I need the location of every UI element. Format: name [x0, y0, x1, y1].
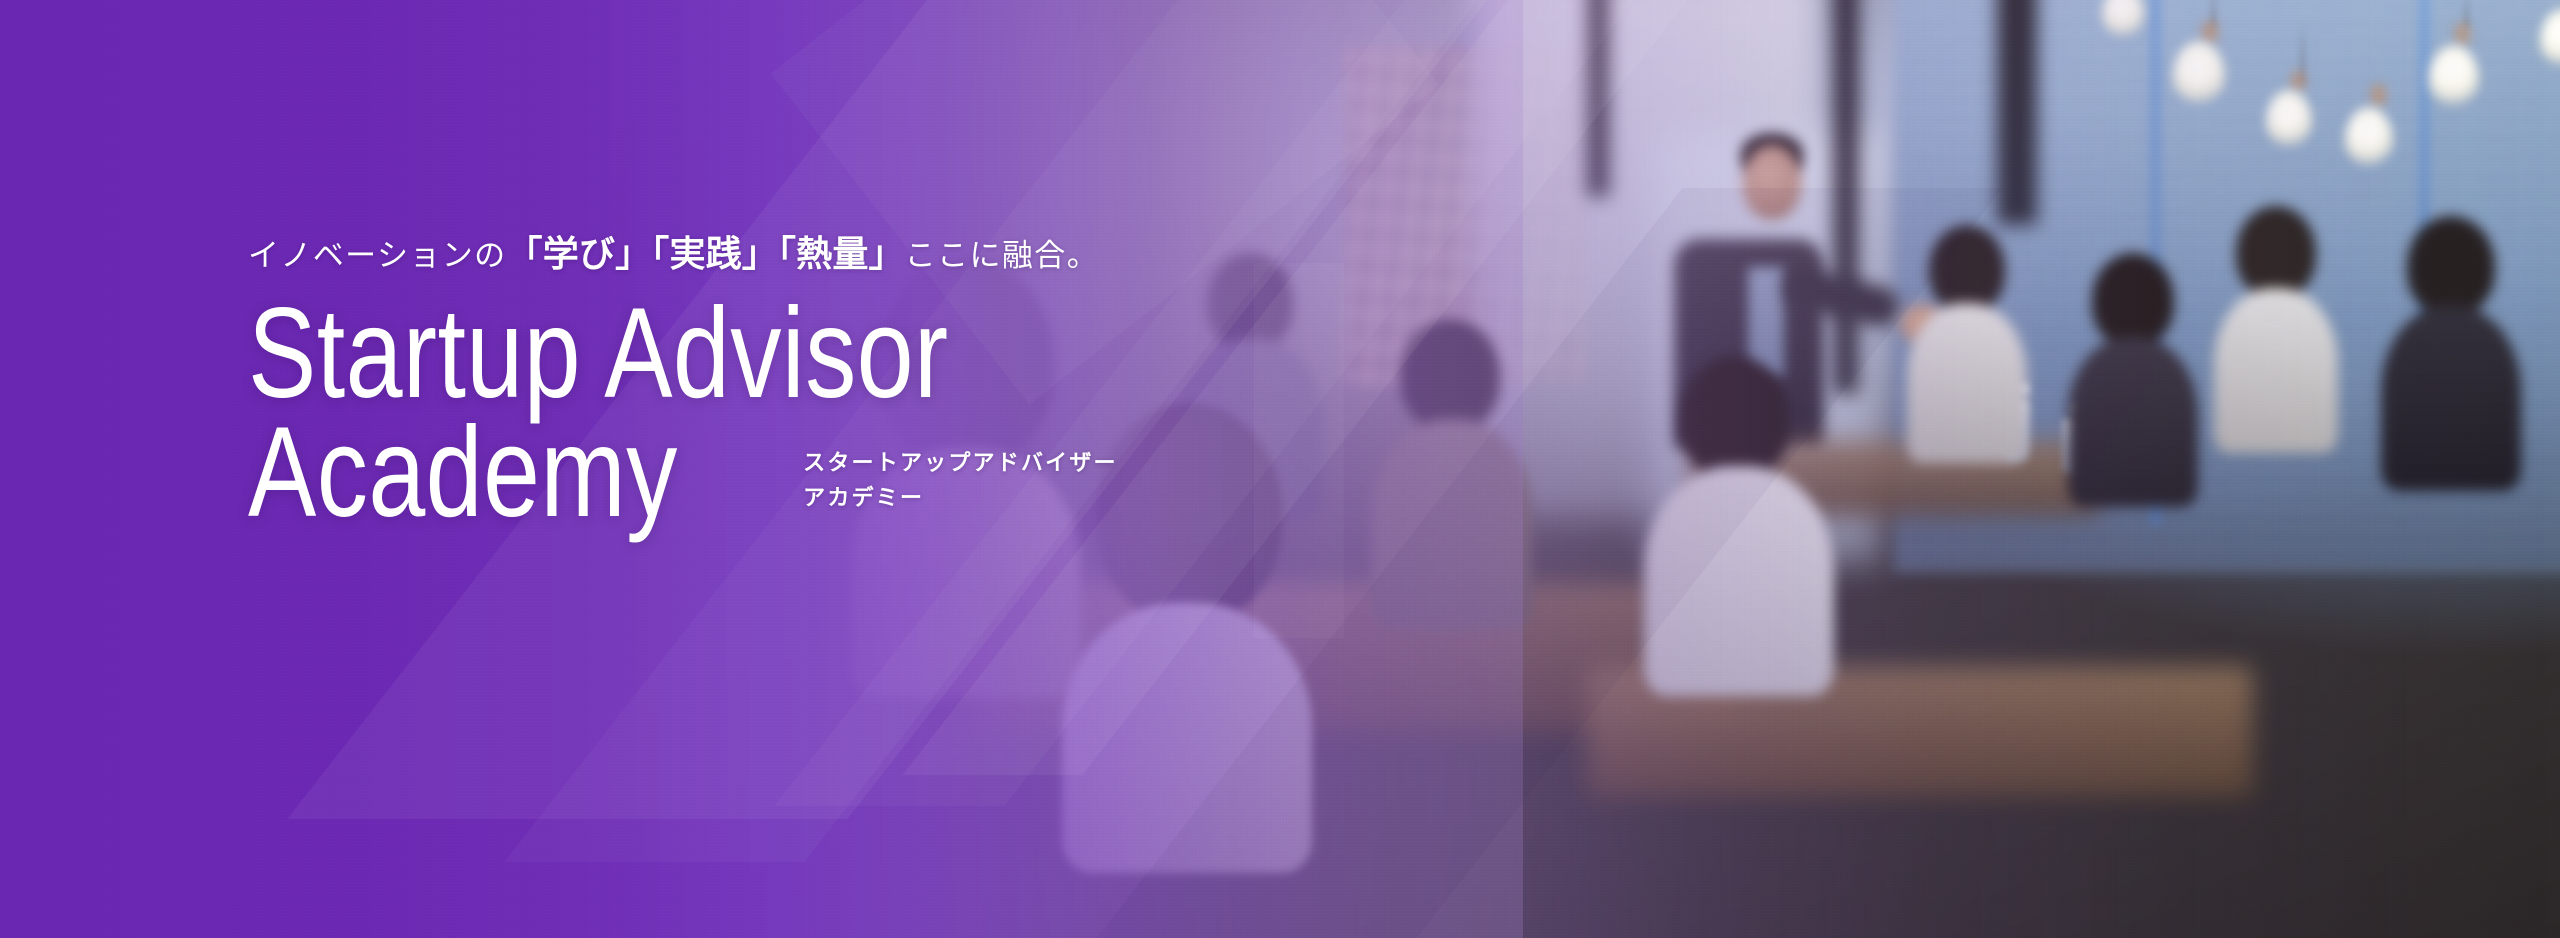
hero-title-reading: スタートアップアドバイザー アカデミー: [803, 445, 1118, 516]
tagline-part-lead: イノベーションの: [248, 238, 507, 273]
tagline-keywords: 「学び」「実践」「熱量」: [507, 233, 905, 274]
hero-banner: イノベーションの「学び」「実践」「熱量」ここに融合。 Startup Advis…: [0, 0, 2560, 938]
hero-copy: イノベーションの「学び」「実践」「熱量」ここに融合。 Startup Advis…: [248, 236, 1124, 532]
reading-line-2: アカデミー: [803, 480, 1118, 516]
hero-tagline: イノベーションの「学び」「実践」「熱量」ここに融合。: [248, 236, 1124, 272]
tagline-part-tail: ここに融合。: [905, 238, 1099, 273]
purple-overlay-right: [1523, 0, 2560, 938]
hero-title-line-1: Startup Advisor: [248, 294, 949, 413]
hero-title-line-2: Academy: [248, 413, 678, 532]
hero-title-block: Startup Advisor Academy スタートアップアドバイザー アカ…: [248, 294, 1124, 532]
reading-line-1: スタートアップアドバイザー: [803, 445, 1118, 481]
hero-title-row-2: Academy スタートアップアドバイザー アカデミー: [248, 413, 1124, 532]
